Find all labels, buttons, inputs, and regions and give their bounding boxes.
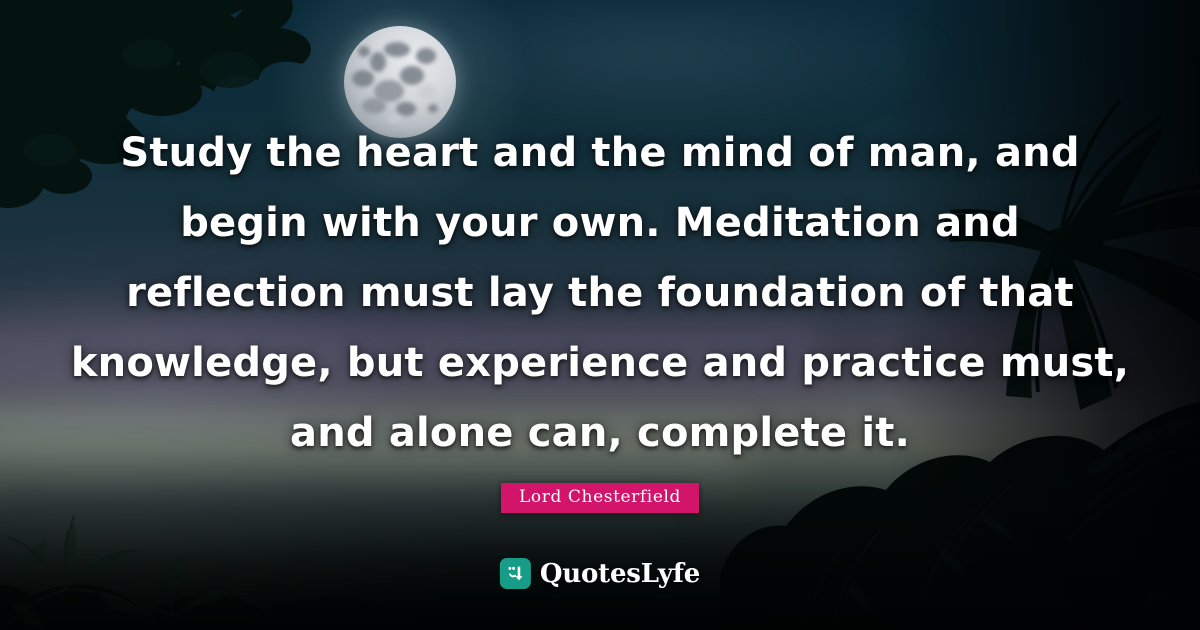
quote-smiley-icon bbox=[500, 558, 531, 589]
quote-line-3: reflection must lay the foundation of th… bbox=[0, 258, 1200, 328]
quote-text: Study the heart and the mind of man, and… bbox=[0, 118, 1200, 468]
quote-line-1: Study the heart and the mind of man, and bbox=[0, 118, 1200, 188]
brand-name: QuotesLyfe bbox=[540, 559, 700, 589]
author-badge: Lord Chesterfield bbox=[501, 483, 699, 513]
brand-logo[interactable]: QuotesLyfe bbox=[500, 558, 700, 589]
quote-card: Study the heart and the mind of man, and… bbox=[0, 0, 1200, 630]
quote-line-5: and alone can, complete it. bbox=[0, 398, 1200, 468]
quote-line-4: knowledge, but experience and practice m… bbox=[0, 328, 1200, 398]
quote-line-2: begin with your own. Meditation and bbox=[0, 188, 1200, 258]
